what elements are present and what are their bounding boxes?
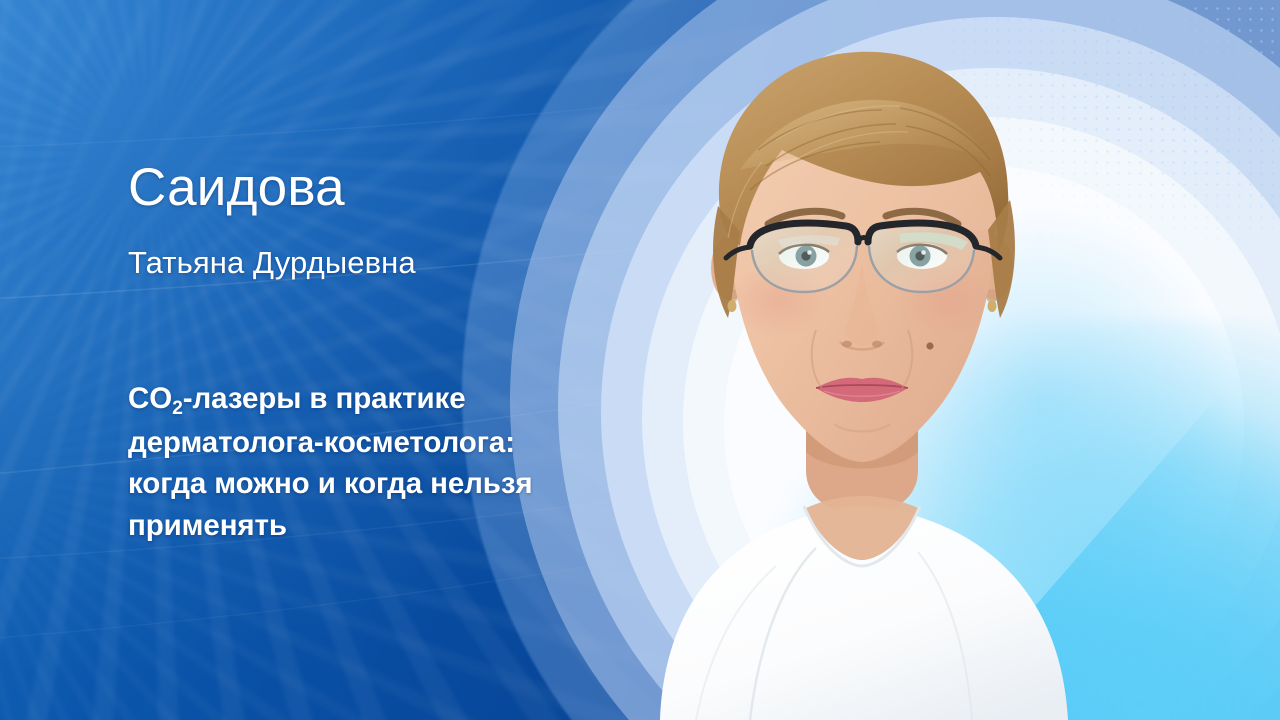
talk-title: CO2-лазеры в практике дерматолога-космет… [128,378,648,546]
talk-title-line-1-suffix: -лазеры в практике [183,382,466,415]
presentation-slide: Саидова Татьяна Дурдыевна CO2-лазеры в п… [0,0,1280,720]
talk-title-formula-prefix: CO [128,382,172,415]
facial-mole [926,342,933,349]
talk-title-formula-subscript: 2 [172,397,183,419]
talk-title-line-2: дерматолога-косметолога: [128,422,648,463]
earring-right [988,300,997,312]
speaker-given-patronymic: Татьяна Дурдыевна [128,245,416,281]
talk-title-line-4: применять [128,505,648,546]
speaker-text-block: Саидова Татьяна Дурдыевна CO2-лазеры в п… [128,0,658,720]
speaker-portrait-photo [600,0,1160,720]
talk-title-line-3: когда можно и когда нельзя [128,463,648,504]
talk-title-line-1: CO2-лазеры в практике [128,378,648,422]
earring-left [728,300,737,312]
speaker-surname: Саидова [128,160,345,216]
